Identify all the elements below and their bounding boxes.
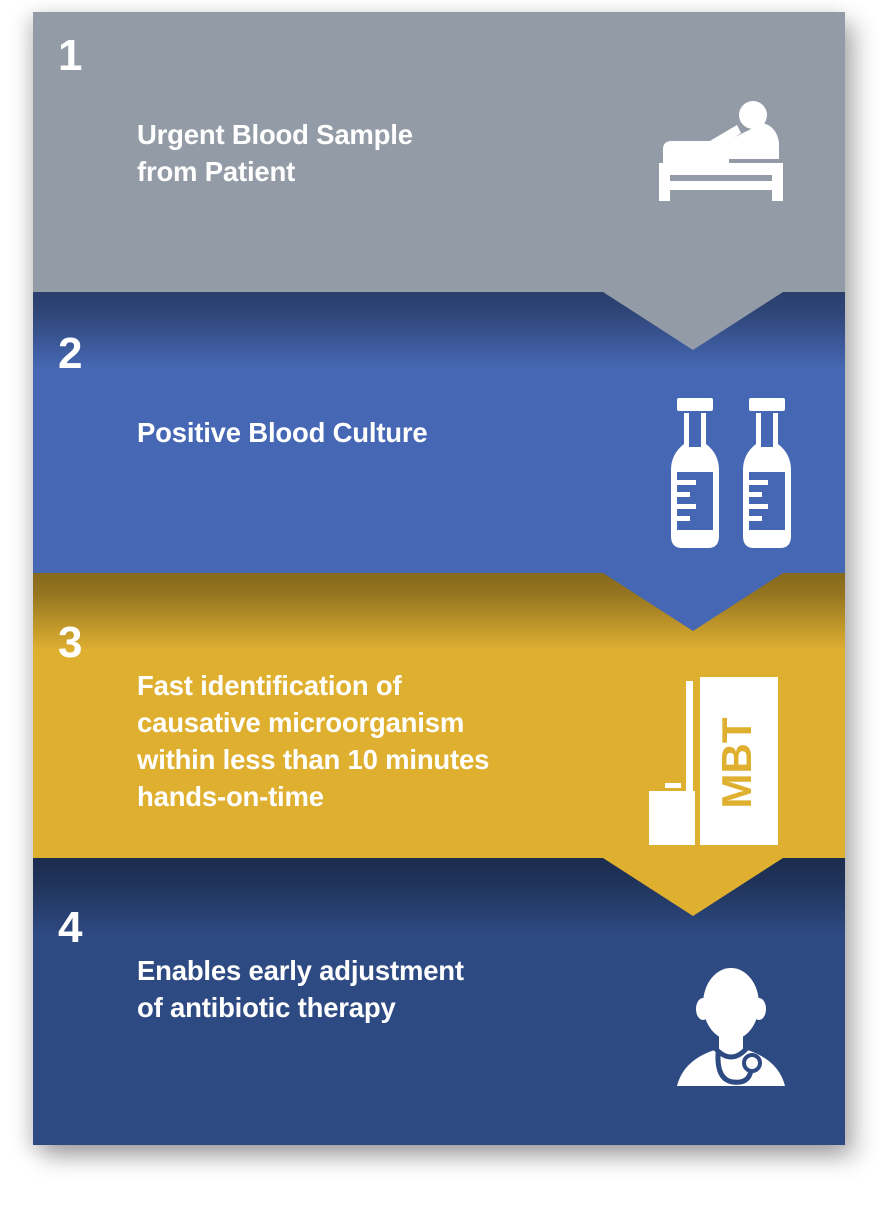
step-3-number: 3 (58, 621, 82, 665)
mbt-instrument-icon: MBT (645, 673, 790, 848)
workflow-step-1[interactable]: 1 Urgent Blood Sample from Patient (33, 12, 845, 292)
workflow-step-3[interactable]: 3 Fast identification of causative micro… (33, 573, 845, 858)
step-1-label: Urgent Blood Sample from Patient (137, 117, 413, 191)
doctor-with-stethoscope-icon (661, 962, 801, 1092)
step-1-number: 1 (58, 34, 82, 78)
step-4-number: 4 (58, 906, 82, 950)
workflow-step-4[interactable]: 4 Enables early adjustment of antibiotic… (33, 858, 845, 1145)
step-2-number: 2 (58, 332, 82, 376)
blood-culture-bottles-icon (661, 396, 801, 556)
patient-in-bed-icon (645, 97, 805, 207)
workflow-card: 1 Urgent Blood Sample from Patient (33, 12, 845, 1145)
step-2-label: Positive Blood Culture (137, 415, 428, 452)
step-3-label: Fast identification of causative microor… (137, 668, 489, 815)
workflow-step-2[interactable]: 2 Positive Blood Culture (33, 292, 845, 573)
mbt-instrument-label: MBT (713, 717, 760, 808)
step-4-label: Enables early adjustment of antibiotic t… (137, 953, 464, 1027)
